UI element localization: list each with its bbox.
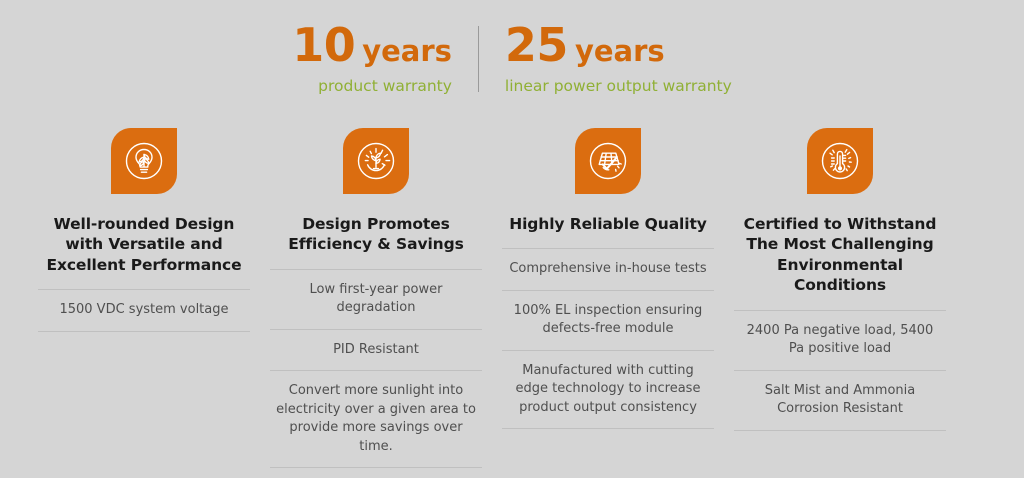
feature-column-quality: Highly Reliable Quality Comprehensive in… xyxy=(502,128,714,429)
feature-title: Certified to Withstand The Most Challeng… xyxy=(734,214,946,296)
feature-title: Design Promotes Efficiency & Savings xyxy=(270,214,482,255)
thermometer-weather-icon xyxy=(807,128,873,194)
feature-item: Manufactured with cutting edge technolog… xyxy=(502,350,714,429)
feature-item: Convert more sunlight into electricity o… xyxy=(270,370,482,468)
sun-sprout-icon xyxy=(343,128,409,194)
feature-item: 100% EL inspection ensuring defects-free… xyxy=(502,290,714,350)
feature-title: Highly Reliable Quality xyxy=(502,214,714,234)
feature-item: 1500 VDC system voltage xyxy=(38,289,250,331)
feature-column-environment: Certified to Withstand The Most Challeng… xyxy=(734,128,946,431)
lightbulb-leaf-icon xyxy=(111,128,177,194)
warranty-block-product: 10 years product warranty xyxy=(270,22,478,95)
feature-column-efficiency: Design Promotes Efficiency & Savings Low… xyxy=(270,128,482,468)
infographic-page: 10 years product warranty 25 years linea… xyxy=(0,0,1024,478)
feature-list: 1500 VDC system voltage xyxy=(38,289,250,331)
solar-panel-check-icon xyxy=(575,128,641,194)
warranty-linear-number: 25 xyxy=(505,22,568,68)
feature-item: 2400 Pa negative load, 5400 Pa positive … xyxy=(734,310,946,370)
warranty-product-headline: 10 years xyxy=(292,22,452,68)
warranty-product-caption: product warranty xyxy=(318,77,452,95)
feature-item: PID Resistant xyxy=(270,329,482,370)
feature-list: Comprehensive in-house tests 100% EL ins… xyxy=(502,248,714,429)
feature-item: Salt Mist and Ammonia Corrosion Resistan… xyxy=(734,370,946,431)
warranty-linear-caption: linear power output warranty xyxy=(505,77,732,95)
feature-columns: Well-rounded Design with Versatile and E… xyxy=(38,128,988,468)
feature-list: 2400 Pa negative load, 5400 Pa positive … xyxy=(734,310,946,431)
warranty-product-number: 10 xyxy=(292,22,355,68)
warranty-linear-headline: 25 years xyxy=(505,22,665,68)
feature-list: Low first-year power degradation PID Res… xyxy=(270,269,482,468)
feature-title: Well-rounded Design with Versatile and E… xyxy=(38,214,250,275)
warranty-header: 10 years product warranty 25 years linea… xyxy=(0,22,1024,95)
feature-item: Comprehensive in-house tests xyxy=(502,248,714,289)
warranty-linear-unit: years xyxy=(575,37,665,66)
feature-column-design: Well-rounded Design with Versatile and E… xyxy=(38,128,250,332)
feature-item: Low first-year power degradation xyxy=(270,269,482,329)
warranty-product-unit: years xyxy=(362,37,452,66)
warranty-block-linear: 25 years linear power output warranty xyxy=(479,22,754,95)
